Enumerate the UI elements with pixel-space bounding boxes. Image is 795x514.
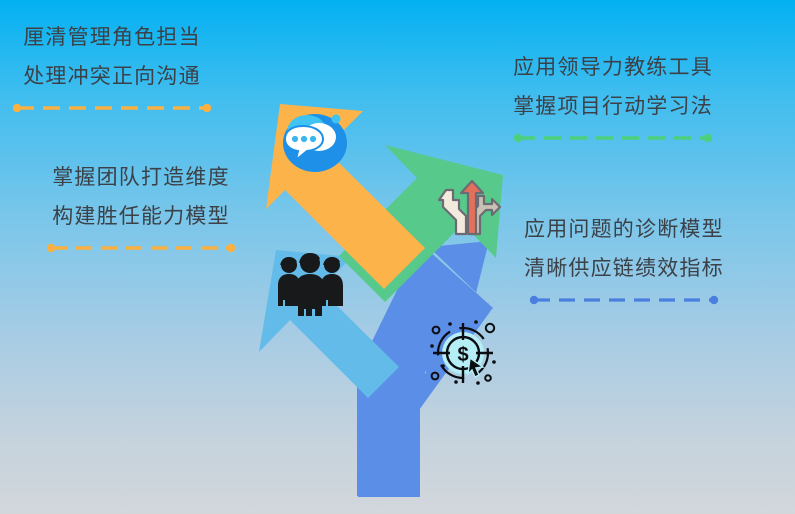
text-line: 处理冲突正向沟通 (23, 66, 201, 87)
text-block-mid-left: 掌握团队打造维度 构建胜任能力模型 (46, 167, 236, 253)
divider-green (513, 133, 713, 143)
text-block-top-left: 厘清管理角色担当 处理冲突正向沟通 (12, 27, 212, 113)
text-line: 清晰供应链绩效指标 (524, 258, 724, 279)
text-block-top-right: 应用领导力教练工具 掌握项目行动学习法 (513, 57, 713, 143)
infographic-canvas: $ 厘清管理角色担当 处理冲突正向沟通 应用领导力教练工具 掌握项目行动学 (0, 0, 795, 514)
divider-blue (529, 295, 719, 305)
chat-blob-dot (332, 115, 341, 124)
text-line: 应用领导力教练工具 (513, 57, 713, 78)
chat-dot-1 (292, 136, 298, 142)
chat-bubbles-icon (283, 114, 347, 172)
text-line: 应用问题的诊断模型 (524, 219, 724, 240)
chat-dot-2 (301, 136, 307, 142)
text-block-mid-right: 应用问题的诊断模型 清晰供应链绩效指标 (524, 219, 724, 305)
dollar-sign: $ (457, 344, 468, 366)
divider-orange-top (12, 103, 212, 113)
text-line: 厘清管理角色担当 (23, 27, 201, 48)
divider-orange-mid (46, 243, 236, 253)
text-line: 构建胜任能力模型 (52, 206, 230, 227)
team-person-right (321, 257, 343, 306)
text-line: 掌握团队打造维度 (52, 167, 230, 188)
text-line: 掌握项目行动学习法 (513, 96, 713, 117)
chat-dot-3 (310, 136, 316, 142)
